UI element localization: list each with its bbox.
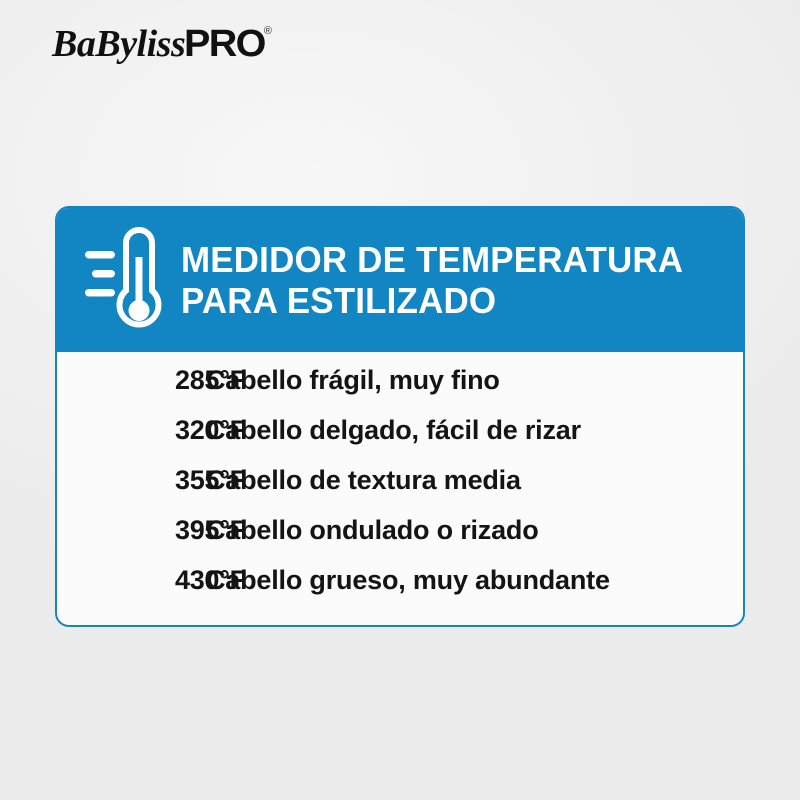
temperature-value: 355°F	[57, 465, 187, 496]
table-row: 320°F Cabello delgado, fácil de rizar	[57, 415, 743, 465]
temperature-value: 395°F	[57, 515, 187, 546]
table-row: 395°F Cabello ondulado o rizado	[57, 515, 743, 565]
table-row: 430°F Cabello grueso, muy abundante	[57, 565, 743, 615]
temperature-guide-card: MEDIDOR DE TEMPERATURA PARA ESTILIZADO 2…	[55, 206, 745, 627]
temperature-description: Cabello delgado, fácil de rizar	[187, 415, 581, 446]
temperature-value: 430°F	[57, 565, 187, 596]
brand-logo-babyliss: BaByliss	[52, 25, 185, 63]
temperature-value: 285°F	[57, 365, 187, 396]
temperature-description: Cabello de textura media	[187, 465, 521, 496]
temperature-description: Cabello grueso, muy abundante	[187, 565, 610, 596]
brand-logo: BaByliss PRO ®	[52, 25, 272, 63]
page-root: BaByliss PRO ® MEDIDOR DE TEMPERATURA PA…	[0, 0, 800, 800]
thermometer-icon	[83, 225, 169, 337]
table-row: 355°F Cabello de textura media	[57, 465, 743, 515]
temperature-description: Cabello ondulado o rizado	[187, 515, 539, 546]
temperature-value: 320°F	[57, 415, 187, 446]
page-title: MEDIDOR DE TEMPERATURA PARA ESTILIZADO	[181, 239, 683, 321]
table-row: 285°F Cabello frágil, muy fino	[57, 365, 743, 415]
temperature-list: 285°F Cabello frágil, muy fino 320°F Cab…	[57, 352, 743, 615]
brand-logo-pro: PRO	[184, 25, 265, 63]
temperature-description: Cabello frágil, muy fino	[187, 365, 500, 396]
card-header: MEDIDOR DE TEMPERATURA PARA ESTILIZADO	[57, 208, 743, 352]
